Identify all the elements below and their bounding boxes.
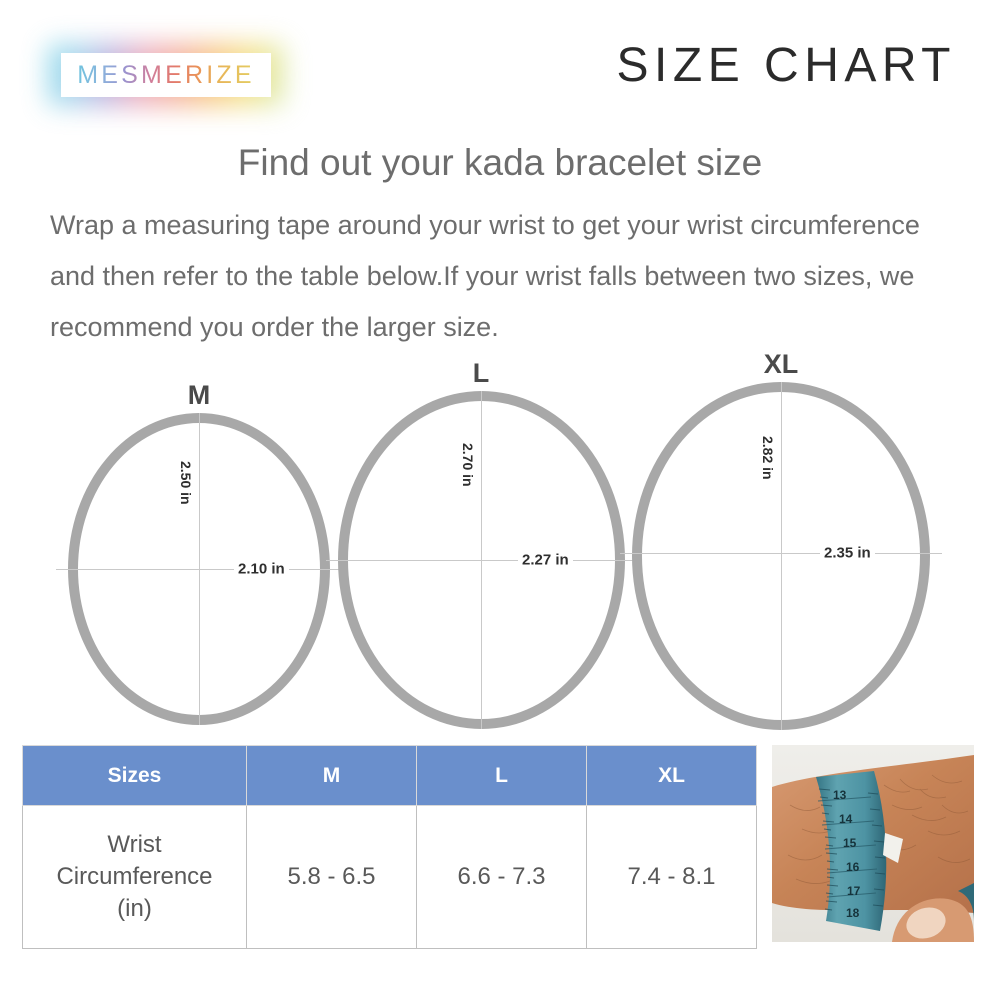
oval-width-label-xl: 2.35 in	[820, 545, 875, 562]
brand-logo: MESMERIZE	[48, 44, 284, 106]
oval-width-label-l: 2.27 in	[518, 552, 573, 569]
wrist-measurement-photo: 13 14 15 16 17 18	[772, 745, 974, 942]
oval-width-label-m: 2.10 in	[234, 561, 289, 578]
svg-text:16: 16	[846, 860, 860, 874]
section-headline: Find out your kada bracelet size	[0, 142, 1000, 184]
page-title: SIZE CHART	[617, 38, 956, 93]
svg-text:15: 15	[843, 836, 857, 850]
svg-text:14: 14	[839, 812, 853, 826]
oval-size-label-xl: XL	[764, 349, 799, 380]
table-header-xl: XL	[587, 746, 757, 806]
crosshair-horizontal-l	[326, 560, 637, 561]
cell-wrist-range-xl: 7.4 - 8.1	[587, 806, 757, 949]
oval-outline-l	[338, 391, 625, 729]
table-header-sizes: Sizes	[23, 746, 247, 806]
logo-plate: MESMERIZE	[61, 53, 271, 97]
oval-size-label-l: L	[473, 358, 490, 389]
oval-outline-m	[68, 413, 330, 725]
oval-height-label-m: 2.50 in	[178, 459, 194, 507]
table-header-row: Sizes M L XL	[23, 746, 757, 806]
row-label-line-1: Wrist	[24, 829, 245, 861]
oval-height-label-xl: 2.82 in	[760, 434, 776, 482]
oval-size-label-m: M	[188, 380, 211, 411]
row-label-wrist-circumference: Wrist Circumference (in)	[23, 806, 247, 949]
crosshair-vertical-xl	[781, 382, 782, 730]
table-header-m: M	[247, 746, 417, 806]
brand-logo-text: MESMERIZE	[77, 61, 254, 90]
row-label-line-3: (in)	[24, 893, 245, 925]
svg-text:17: 17	[847, 884, 861, 898]
size-table: Sizes M L XL Wrist Circumference (in) 5.…	[22, 745, 757, 949]
svg-text:13: 13	[833, 788, 847, 802]
cell-wrist-range-m: 5.8 - 6.5	[247, 806, 417, 949]
svg-text:18: 18	[846, 906, 860, 920]
table-row: Wrist Circumference (in) 5.8 - 6.5 6.6 -…	[23, 806, 757, 949]
intro-paragraph: Wrap a measuring tape around your wrist …	[50, 200, 952, 353]
crosshair-horizontal-xl	[620, 553, 942, 554]
oval-group-m: M 2.50 in 2.10 in	[68, 413, 330, 725]
oval-group-l: L 2.70 in 2.27 in	[338, 391, 625, 729]
crosshair-vertical-l	[481, 391, 482, 729]
oval-group-xl: XL 2.82 in 2.35 in	[632, 382, 930, 730]
oval-height-label-l: 2.70 in	[460, 441, 476, 489]
row-label-line-2: Circumference	[24, 861, 245, 893]
table-header-l: L	[417, 746, 587, 806]
oval-outline-xl	[632, 382, 930, 730]
wrist-photo-illustration: 13 14 15 16 17 18	[772, 745, 974, 942]
cell-wrist-range-l: 6.6 - 7.3	[417, 806, 587, 949]
crosshair-horizontal-m	[56, 569, 342, 570]
crosshair-vertical-m	[199, 413, 200, 725]
